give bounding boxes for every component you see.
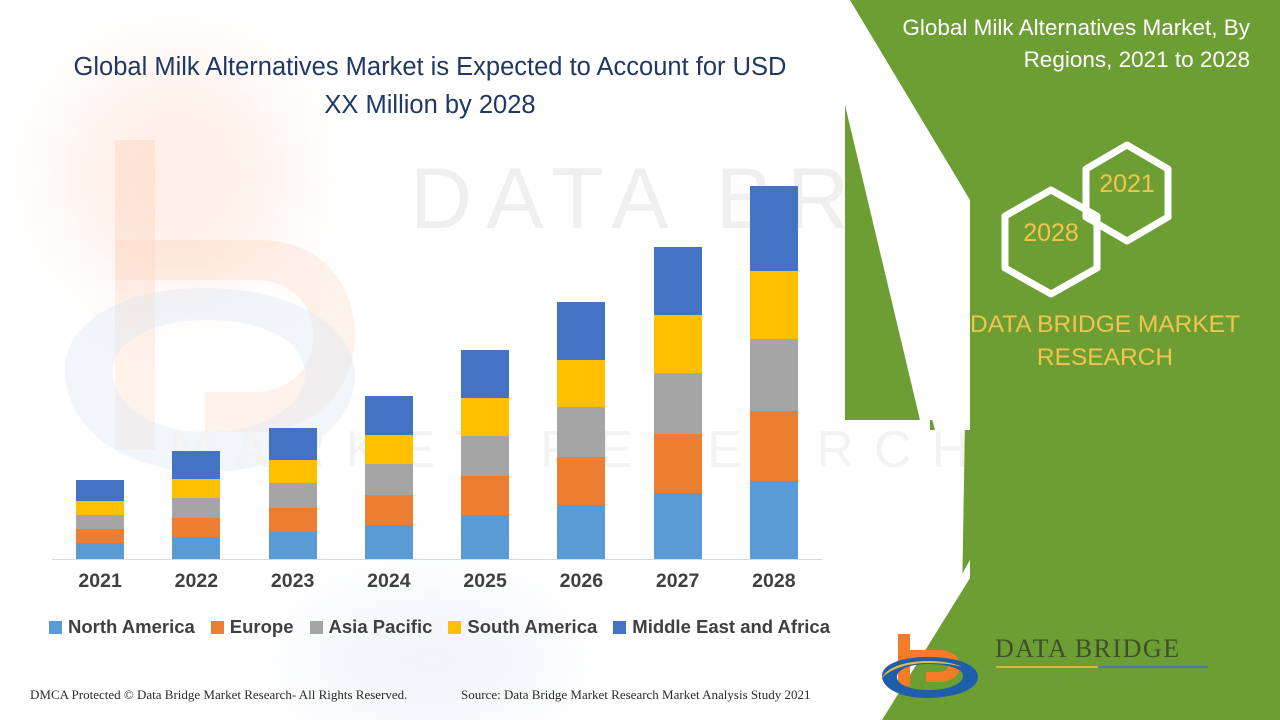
legend-item[interactable]: Europe xyxy=(211,616,294,638)
x-axis-line xyxy=(52,559,822,560)
bar-segment xyxy=(654,493,702,559)
bar-segment xyxy=(750,339,798,411)
bar-segment xyxy=(76,480,124,501)
bar-segment xyxy=(76,501,124,515)
logo-divider xyxy=(996,666,1208,668)
bar-segment xyxy=(557,505,605,559)
legend-swatch-icon xyxy=(448,621,461,634)
legend-label: North America xyxy=(68,616,195,638)
bar-chart-plot xyxy=(52,160,822,560)
chart-title: Global Milk Alternatives Market is Expec… xyxy=(60,48,800,124)
company-logo: DATA BRIDGE MARKET RESEARCH xyxy=(880,630,1240,702)
bar-segment xyxy=(654,373,702,434)
bar-group xyxy=(52,160,822,559)
legend-swatch-icon xyxy=(613,621,626,634)
bar-segment xyxy=(365,396,413,435)
legend-item[interactable]: South America xyxy=(448,616,597,638)
bar-2028 xyxy=(750,186,798,559)
bar-segment xyxy=(76,515,124,529)
bar-segment xyxy=(461,476,509,515)
green-side-panel: Global Milk Alternatives Market, By Regi… xyxy=(820,0,1280,720)
bar-segment xyxy=(365,525,413,559)
legend-item[interactable]: Asia Pacific xyxy=(310,616,433,638)
bar-segment xyxy=(172,498,220,518)
bar-segment xyxy=(557,302,605,360)
x-tick-2023: 2023 xyxy=(269,570,317,593)
bar-segment xyxy=(269,428,317,460)
bar-segment xyxy=(365,495,413,525)
legend-item[interactable]: Middle East and Africa xyxy=(613,616,830,638)
x-tick-2026: 2026 xyxy=(557,570,605,593)
hexagon-label-2021: 2021 xyxy=(1082,170,1172,199)
brand-line-2: RESEARCH xyxy=(1037,344,1173,371)
bar-segment xyxy=(269,483,317,508)
brand-line-1: DATA BRIDGE MARKET xyxy=(970,311,1240,338)
bar-segment xyxy=(461,436,509,476)
legend-swatch-icon xyxy=(310,621,323,634)
legend-label: Middle East and Africa xyxy=(632,616,830,638)
bar-segment xyxy=(557,457,605,505)
bar-segment xyxy=(269,508,317,532)
chart-legend: North AmericaEuropeAsia PacificSouth Ame… xyxy=(52,616,827,638)
legend-swatch-icon xyxy=(211,621,224,634)
footer-copyright: DMCA Protected © Data Bridge Market Rese… xyxy=(30,687,407,703)
bar-segment xyxy=(654,247,702,315)
bar-segment xyxy=(750,481,798,559)
brand-name: DATA BRIDGE MARKET RESEARCH xyxy=(945,308,1265,374)
x-tick-2024: 2024 xyxy=(365,570,413,593)
bar-segment xyxy=(172,518,220,537)
logo-wordmark: DATA BRIDGE xyxy=(995,634,1181,664)
bar-segment xyxy=(269,460,317,483)
bar-2026 xyxy=(557,302,605,559)
bar-segment xyxy=(654,315,702,373)
bar-segment xyxy=(172,537,220,559)
data-bridge-logo-icon xyxy=(880,630,985,702)
bar-segment xyxy=(172,479,220,498)
x-tick-2021: 2021 xyxy=(76,570,124,593)
bar-segment xyxy=(750,411,798,481)
hexagon-label-2028: 2028 xyxy=(1006,219,1096,248)
bar-2023 xyxy=(269,428,317,559)
bar-segment xyxy=(76,543,124,559)
bar-segment xyxy=(654,434,702,493)
bar-segment xyxy=(750,271,798,339)
footer-source: Source: Data Bridge Market Research Mark… xyxy=(461,687,810,703)
legend-label: South America xyxy=(467,616,597,638)
x-axis-tick-labels: 20212022202320242025202620272028 xyxy=(52,570,822,593)
bar-segment xyxy=(365,464,413,495)
logo-tagline: MARKET RESEARCH xyxy=(997,670,1157,682)
bar-segment xyxy=(750,186,798,271)
bar-segment xyxy=(461,515,509,559)
bar-segment xyxy=(172,451,220,479)
bar-segment xyxy=(76,529,124,543)
bar-segment xyxy=(269,532,317,559)
bar-2022 xyxy=(172,451,220,559)
x-tick-2027: 2027 xyxy=(654,570,702,593)
x-tick-2025: 2025 xyxy=(461,570,509,593)
x-tick-2028: 2028 xyxy=(750,570,798,593)
bar-2024 xyxy=(365,396,413,559)
bar-segment xyxy=(557,407,605,457)
bar-2027 xyxy=(654,247,702,559)
legend-swatch-icon xyxy=(49,621,62,634)
legend-label: Asia Pacific xyxy=(329,616,433,638)
legend-label: Europe xyxy=(230,616,294,638)
bar-segment xyxy=(557,360,605,407)
x-tick-2022: 2022 xyxy=(172,570,220,593)
infographic-canvas: DATA BRIDGE MARKET RESEARCH Global Milk … xyxy=(0,0,1280,720)
legend-item[interactable]: North America xyxy=(49,616,195,638)
bar-segment xyxy=(365,435,413,464)
bar-2025 xyxy=(461,350,509,559)
bar-segment xyxy=(461,350,509,398)
bar-segment xyxy=(461,398,509,436)
bar-2021 xyxy=(76,480,124,559)
